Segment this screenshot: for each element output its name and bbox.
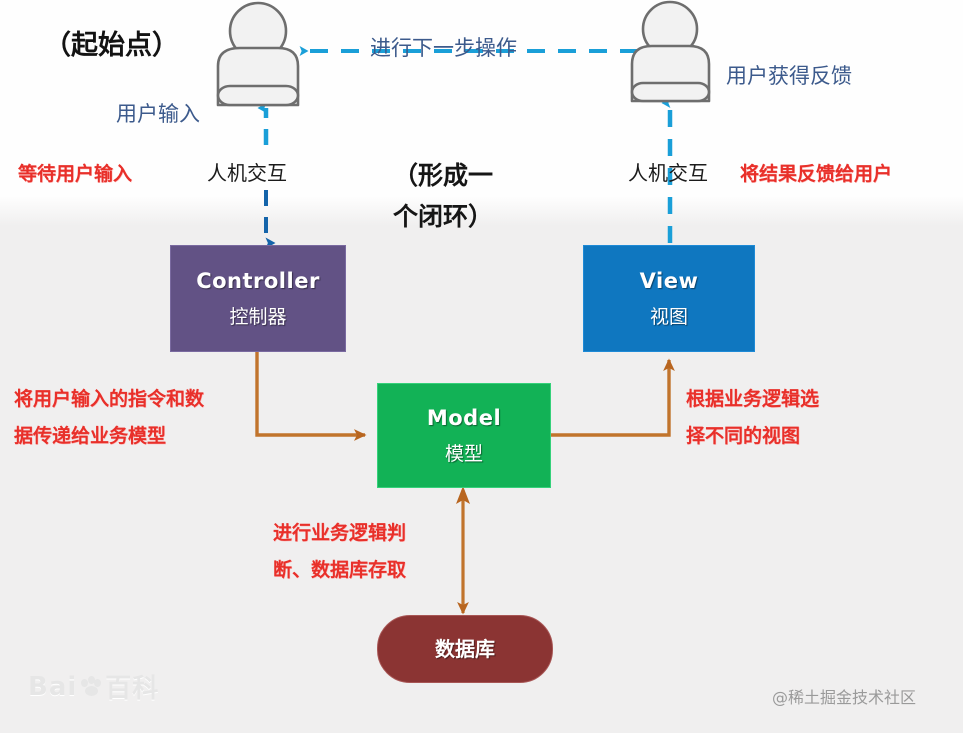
label-model-to-database: 进行业务逻辑判 断、数据库存取 xyxy=(273,515,406,589)
watermark-juejin: @稀土掘金技术社区 xyxy=(772,684,916,708)
label-user-feedback: 用户获得反馈 xyxy=(726,61,852,91)
label-feedback-to-user: 将结果反馈给用户 xyxy=(740,161,892,189)
node-view-subtitle: 视图 xyxy=(650,307,688,328)
node-model-title: Model xyxy=(427,407,501,430)
node-view-title: View xyxy=(640,270,699,293)
watermark-baidu-suffix: 百科 xyxy=(105,668,159,705)
label-wait-user-input: 等待用户输入 xyxy=(18,161,132,189)
node-controller[interactable]: Controller 控制器 xyxy=(170,245,346,352)
node-controller-subtitle: 控制器 xyxy=(229,307,286,328)
node-model[interactable]: Model 模型 xyxy=(377,383,551,488)
node-database[interactable]: 数据库 xyxy=(377,615,553,683)
label-start-point: （起始点） xyxy=(44,26,179,65)
label-hci-left: 人机交互 xyxy=(207,159,287,188)
node-database-label: 数据库 xyxy=(435,638,495,660)
node-controller-title: Controller xyxy=(196,270,320,293)
label-user-input: 用户输入 xyxy=(116,99,200,129)
label-closed-loop-note: （形成一 个闭环） xyxy=(393,155,493,238)
node-view[interactable]: View 视图 xyxy=(583,245,755,352)
label-hci-right: 人机交互 xyxy=(628,159,708,188)
watermark-baidu-text: Bai xyxy=(28,672,77,702)
label-model-to-view: 根据业务逻辑选 择不同的视图 xyxy=(686,381,819,455)
watermark-baidu: Bai 百科 xyxy=(28,668,159,705)
label-controller-to-model: 将用户输入的指令和数 据传递给业务模型 xyxy=(14,381,204,455)
label-next-step: 进行下一步操作 xyxy=(370,33,517,63)
mvc-diagram-canvas: Controller 控制器 View 视图 Model 模型 数据库 （起始点… xyxy=(0,0,963,733)
node-model-subtitle: 模型 xyxy=(445,444,483,465)
paw-icon xyxy=(80,676,102,698)
